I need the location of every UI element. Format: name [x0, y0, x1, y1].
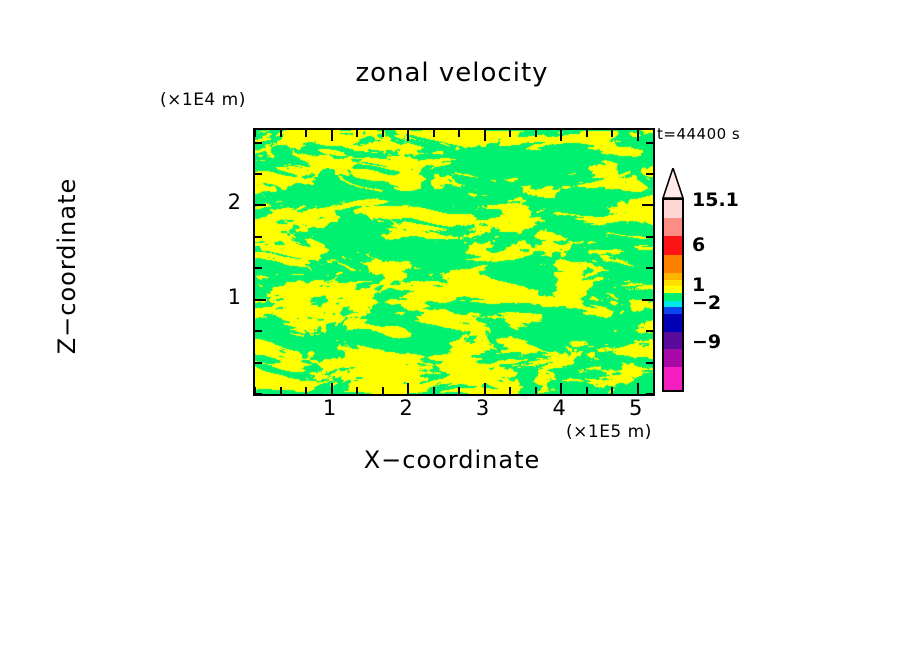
tick-mark — [331, 130, 333, 141]
velocity-field-canvas — [255, 130, 653, 394]
colorbar-band — [664, 367, 682, 390]
colorbar-band — [664, 218, 682, 236]
x-tick-label: 4 — [539, 396, 579, 420]
tick-mark — [458, 130, 460, 137]
tick-mark — [433, 387, 435, 394]
tick-mark — [356, 130, 358, 137]
x-tick-label: 2 — [386, 396, 426, 420]
tick-mark — [255, 299, 266, 301]
y-tick-label: 2 — [215, 190, 241, 214]
tick-mark — [586, 387, 588, 394]
colorbar-band — [664, 293, 682, 300]
colorbar-band — [664, 273, 682, 279]
tick-mark — [255, 393, 262, 395]
tick-mark — [305, 130, 307, 137]
tick-mark — [255, 362, 262, 364]
colorbar-band — [664, 286, 682, 293]
colorbar-tick-label: 6 — [692, 234, 705, 256]
tick-mark — [509, 130, 511, 137]
colorbar-arrow-icon — [662, 168, 684, 198]
y-axis-label: Z−coordinate — [53, 136, 81, 396]
tick-mark — [255, 267, 262, 269]
tick-mark — [646, 393, 653, 395]
tick-mark — [255, 142, 262, 144]
tick-mark — [407, 130, 409, 141]
tick-mark — [611, 130, 613, 137]
colorbar-band — [664, 307, 682, 313]
tick-mark — [280, 130, 282, 137]
tick-mark — [356, 387, 358, 394]
tick-mark — [646, 362, 653, 364]
tick-mark — [255, 330, 262, 332]
colorbar-band — [664, 280, 682, 286]
tick-mark — [637, 383, 639, 394]
tick-mark — [646, 267, 653, 269]
tick-mark — [535, 130, 537, 137]
page-title: zonal velocity — [0, 58, 904, 88]
colorbar-band — [664, 255, 682, 273]
x-tick-label: 1 — [310, 396, 350, 420]
tick-mark — [646, 142, 653, 144]
x-tick-label: 3 — [463, 396, 503, 420]
tick-mark — [611, 387, 613, 394]
figure-canvas: zonal velocity (×1E4 m) (×1E5 m) X−coord… — [0, 0, 904, 654]
time-annotation: t=44400 s — [657, 125, 740, 143]
x-tick-label: 5 — [616, 396, 656, 420]
tick-mark — [484, 383, 486, 394]
tick-mark — [255, 236, 262, 238]
tick-mark — [642, 204, 653, 206]
tick-mark — [254, 130, 256, 137]
colorbar-tick-label: −2 — [692, 292, 721, 314]
tick-mark — [484, 130, 486, 141]
tick-mark — [586, 130, 588, 137]
tick-mark — [382, 130, 384, 137]
x-axis-unit-label: (×1E5 m) — [566, 422, 652, 442]
tick-mark — [642, 299, 653, 301]
colorbar-tick-label: −9 — [692, 331, 721, 353]
contour-plot-area — [253, 128, 655, 396]
tick-mark — [646, 236, 653, 238]
colorbar-band — [664, 332, 682, 350]
tick-mark — [637, 130, 639, 141]
tick-mark — [433, 130, 435, 137]
tick-mark — [255, 173, 262, 175]
tick-mark — [305, 387, 307, 394]
tick-mark — [646, 173, 653, 175]
tick-mark — [509, 387, 511, 394]
tick-mark — [331, 383, 333, 394]
y-tick-label: 1 — [215, 285, 241, 309]
tick-mark — [407, 383, 409, 394]
x-axis-label: X−coordinate — [0, 446, 904, 474]
tick-mark — [458, 387, 460, 394]
tick-mark — [560, 130, 562, 141]
colorbar-band — [664, 314, 682, 332]
colorbar-band — [664, 301, 682, 307]
colorbar-band — [664, 200, 682, 218]
colorbar — [662, 198, 684, 392]
y-axis-unit-label: (×1E4 m) — [160, 90, 246, 110]
colorbar-band — [664, 236, 682, 255]
tick-mark — [255, 204, 266, 206]
colorbar-tick-label: 15.1 — [692, 189, 739, 211]
tick-mark — [280, 387, 282, 394]
tick-mark — [382, 387, 384, 394]
colorbar-band — [664, 349, 682, 367]
tick-mark — [560, 383, 562, 394]
tick-mark — [646, 330, 653, 332]
tick-mark — [535, 387, 537, 394]
